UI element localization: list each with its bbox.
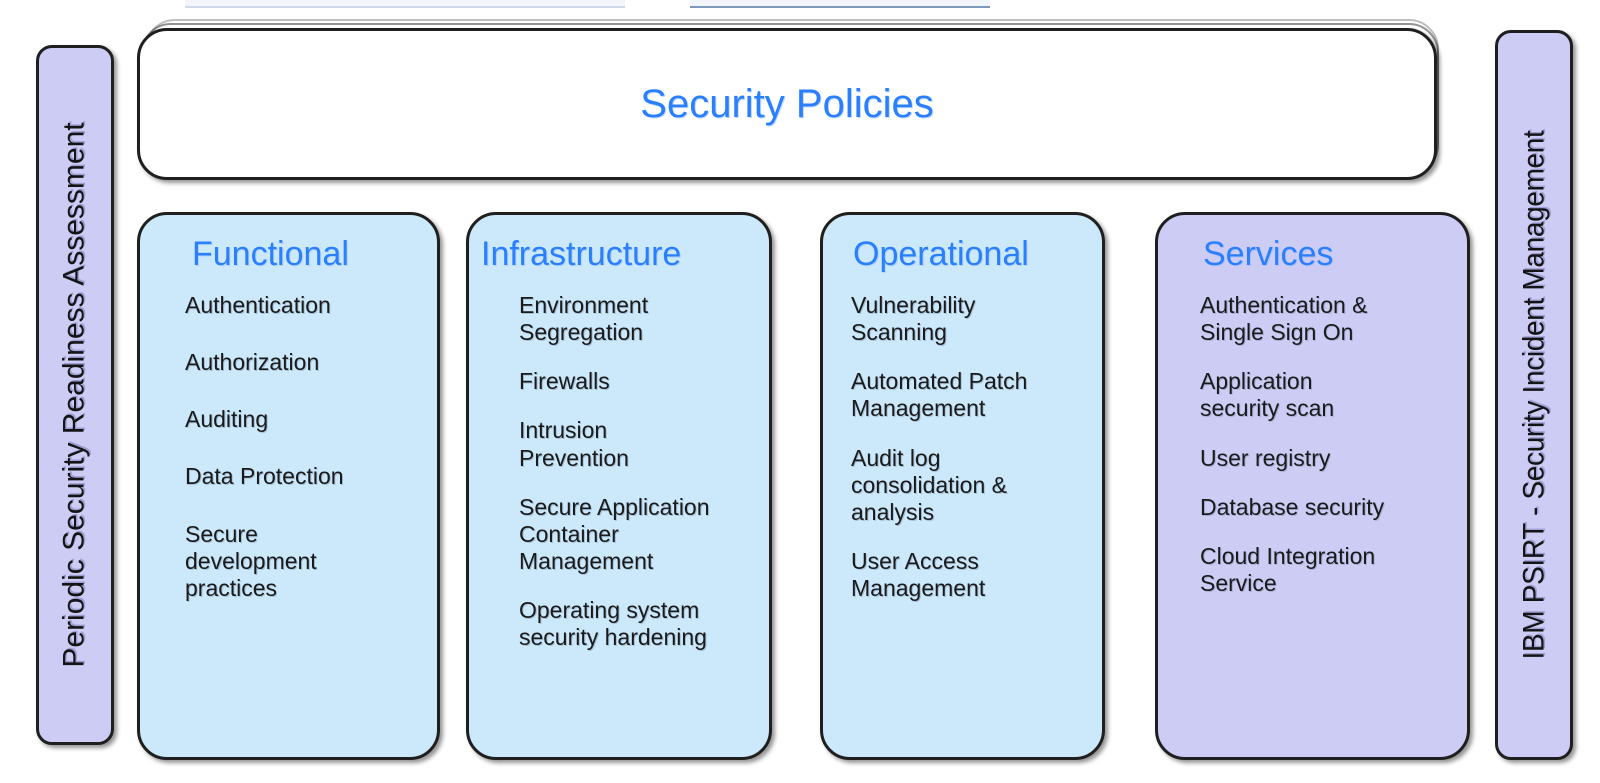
column-services: Services Authentication & Single Sign On… [1155, 212, 1470, 760]
column-items-functional: Authentication Authorization Auditing Da… [140, 292, 437, 602]
cropped-element-remnant-left [185, 0, 625, 8]
column-title-operational: Operational [823, 235, 1102, 274]
right-panel-label: IBM PSIRT - Security Incident Management [1517, 131, 1551, 660]
list-item: Firewalls [519, 368, 757, 395]
list-item: Secure development practices [185, 521, 425, 602]
column-functional: Functional Authentication Authorization … [137, 212, 440, 760]
security-architecture-diagram: Periodic Security Readiness Assessment S… [0, 0, 1600, 783]
list-item: Authorization [185, 349, 425, 376]
list-item: User registry [1200, 445, 1455, 472]
list-item: User Access Management [851, 548, 1090, 602]
column-operational: Operational Vulnerability Scanning Autom… [820, 212, 1105, 760]
column-items-infrastructure: Environment Segregation Firewalls Intrus… [469, 292, 769, 651]
list-item: Vulnerability Scanning [851, 292, 1090, 346]
security-policies-banner: Security Policies [137, 28, 1437, 180]
list-item: Environment Segregation [519, 292, 757, 346]
cropped-element-remnant-right [690, 0, 990, 8]
list-item: Authentication [185, 292, 425, 319]
column-items-operational: Vulnerability Scanning Automated Patch M… [823, 292, 1102, 602]
list-item: Audit log consolidation & analysis [851, 445, 1090, 526]
list-item: Automated Patch Management [851, 368, 1090, 422]
list-item: Authentication & Single Sign On [1200, 292, 1455, 346]
left-panel-label: Periodic Security Readiness Assessment [58, 122, 92, 667]
list-item: Secure Application Container Management [519, 494, 757, 575]
list-item: Application security scan [1200, 368, 1455, 422]
column-title-services: Services [1158, 235, 1467, 274]
column-title-functional: Functional [140, 235, 437, 274]
column-items-services: Authentication & Single Sign On Applicat… [1158, 292, 1467, 597]
security-policies-title: Security Policies [640, 82, 933, 127]
ibm-psirt-security-incident-management-panel: IBM PSIRT - Security Incident Management [1495, 30, 1573, 760]
column-title-infrastructure: Infrastructure [469, 235, 769, 274]
list-item: Intrusion Prevention [519, 417, 757, 471]
list-item: Cloud Integration Service [1200, 543, 1455, 597]
list-item: Auditing [185, 406, 425, 433]
list-item: Database security [1200, 494, 1455, 521]
periodic-security-readiness-assessment-panel: Periodic Security Readiness Assessment [36, 45, 114, 745]
list-item: Operating system security hardening [519, 597, 757, 651]
column-infrastructure: Infrastructure Environment Segregation F… [466, 212, 772, 760]
list-item: Data Protection [185, 463, 425, 490]
